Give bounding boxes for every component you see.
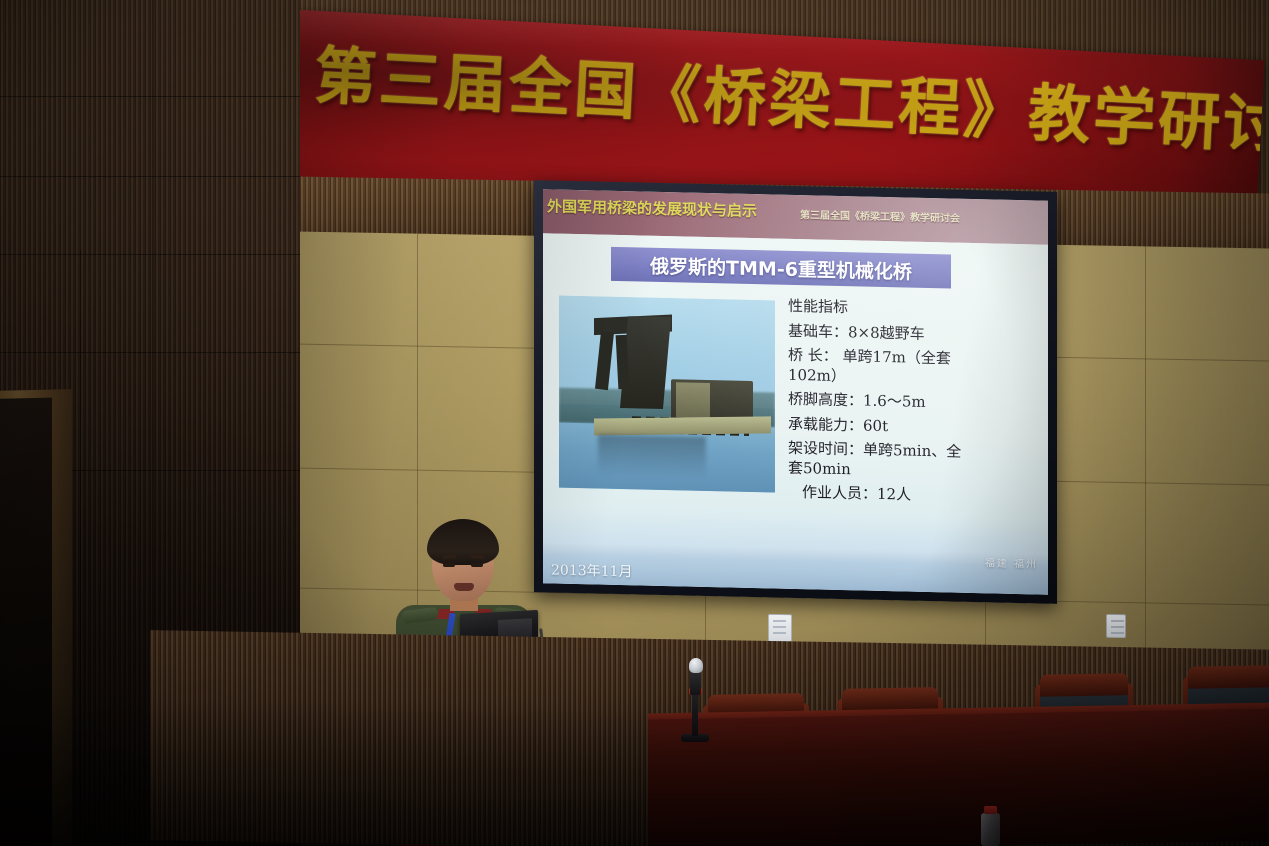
spec-line: 作业人员：12人 — [788, 483, 1038, 508]
wall-socket[interactable] — [1106, 614, 1126, 638]
slide-spec-list: 性能指标 基础车：8×8越野车 桥 长： 单跨17m（全套 102m） 桥脚高度… — [788, 297, 1038, 513]
spec-line: 基础车：8×8越野车 — [788, 321, 1038, 346]
slide-title: 俄罗斯的TMM-6重型机械化桥 — [650, 251, 912, 284]
microphone-stem — [692, 694, 698, 736]
speaker-eye — [471, 563, 483, 567]
speaker-mouth — [454, 583, 474, 591]
slide-photo-bridge-vehicle — [559, 296, 775, 493]
microphone[interactable] — [683, 658, 707, 744]
slide-header-title: 外国军用桥梁的发展现状与启示 — [547, 195, 757, 221]
bottle-cap — [984, 806, 997, 814]
spec-heading: 性能指标 — [788, 297, 1038, 322]
spec-line: 承载能力：60t — [788, 414, 1038, 439]
speaker-eye — [443, 563, 455, 567]
conference-hall-photo: 第三届全国《桥梁工程》教学研讨会 外国军用桥梁的发展现状与启示 第三届全国《桥梁… — [0, 0, 1269, 846]
slide-footer: 2013年11月 福建 福州 — [543, 543, 1048, 594]
bottle-body — [981, 813, 1000, 846]
projection-screen[interactable]: 外国军用桥梁的发展现状与启示 第三届全国《桥梁工程》教学研讨会 俄罗斯的TMM-… — [534, 180, 1057, 604]
slide-body: 俄罗斯的TMM-6重型机械化桥 性能指标 — [543, 233, 1048, 594]
spec-line: 桥脚高度：1.6～5m — [788, 390, 1038, 415]
water-bottle[interactable] — [979, 806, 1001, 846]
head-table-panel — [648, 746, 840, 846]
microphone-body — [690, 671, 701, 695]
slide-footer-place: 福建 福州 — [985, 554, 1038, 570]
microphone-head-icon — [689, 658, 703, 673]
slide-title-bar: 俄罗斯的TMM-6重型机械化桥 — [611, 247, 951, 289]
slide-header-subtitle: 第三届全国《桥梁工程》教学研讨会 — [800, 206, 960, 225]
wall-socket[interactable] — [768, 614, 792, 642]
slide-surface: 外国军用桥梁的发展现状与启示 第三届全国《桥梁工程》教学研讨会 俄罗斯的TMM-… — [543, 189, 1048, 594]
slide-footer-date: 2013年11月 — [551, 559, 632, 581]
speaker-hair — [427, 519, 499, 565]
